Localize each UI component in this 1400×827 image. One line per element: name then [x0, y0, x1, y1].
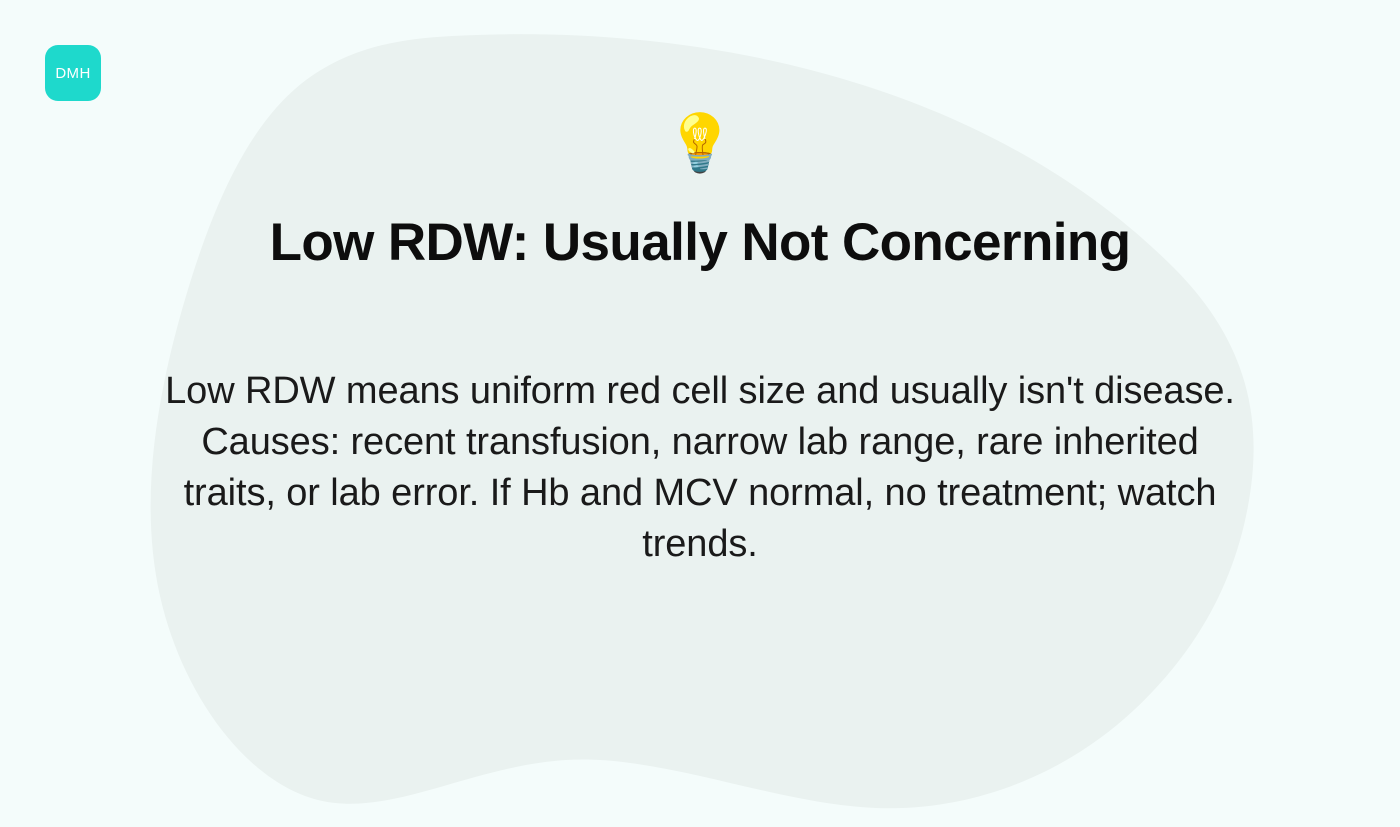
page-title: Low RDW: Usually Not Concerning [270, 214, 1131, 272]
card-body-text: Low RDW means uniform red cell size and … [165, 366, 1235, 570]
light-bulb-icon: 💡 [665, 112, 735, 174]
card-content: 💡 Low RDW: Usually Not Concerning Low RD… [0, 0, 1400, 827]
slide-canvas: DMH 💡 Low RDW: Usually Not Concerning Lo… [0, 0, 1400, 827]
